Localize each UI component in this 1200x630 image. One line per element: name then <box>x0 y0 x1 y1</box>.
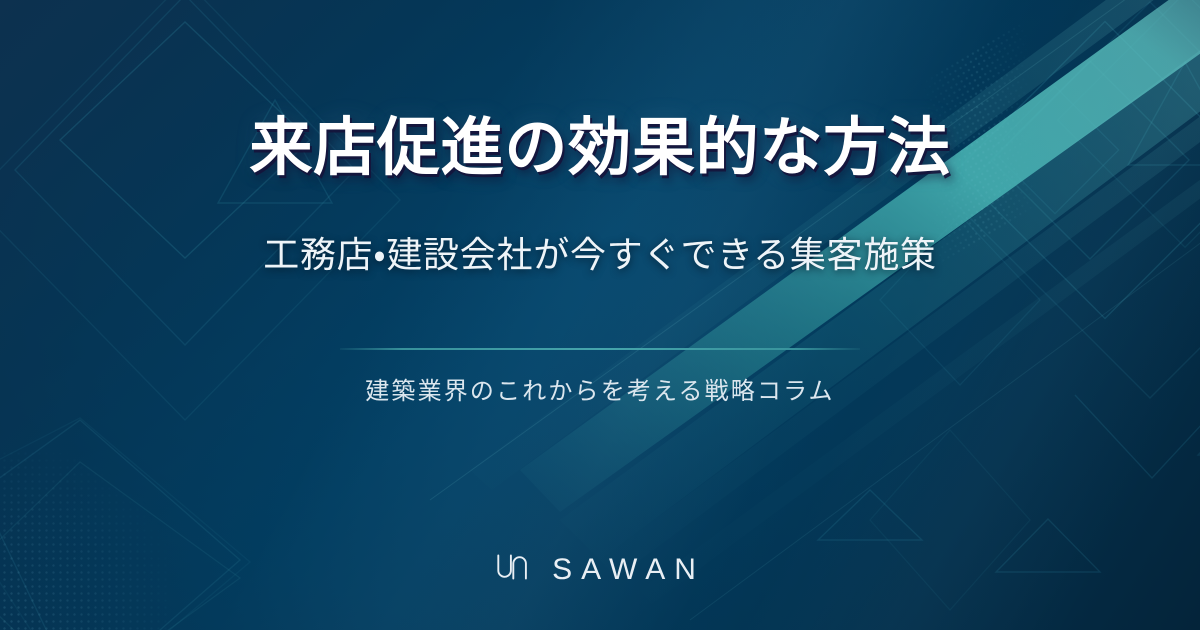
sawan-arc-monogram-icon <box>495 551 529 588</box>
divider-rule <box>340 348 860 350</box>
page-caption: 建築業界のこれからを考える戦略コラム <box>0 375 1200 409</box>
brand-wordmark: SAWAN <box>543 555 705 585</box>
card-content: 来店促進の効果的な方法 工務店・建設会社が今すぐできる集客施策 建築業界のこれか… <box>0 0 1200 630</box>
page-subtitle: 工務店・建設会社が今すぐできる集客施策 <box>0 232 1200 279</box>
brand-logo: SAWAN <box>495 551 705 588</box>
page-title: 来店促進の効果的な方法 <box>0 112 1200 185</box>
og-card: 来店促進の効果的な方法 工務店・建設会社が今すぐできる集客施策 建築業界のこれか… <box>0 0 1200 630</box>
